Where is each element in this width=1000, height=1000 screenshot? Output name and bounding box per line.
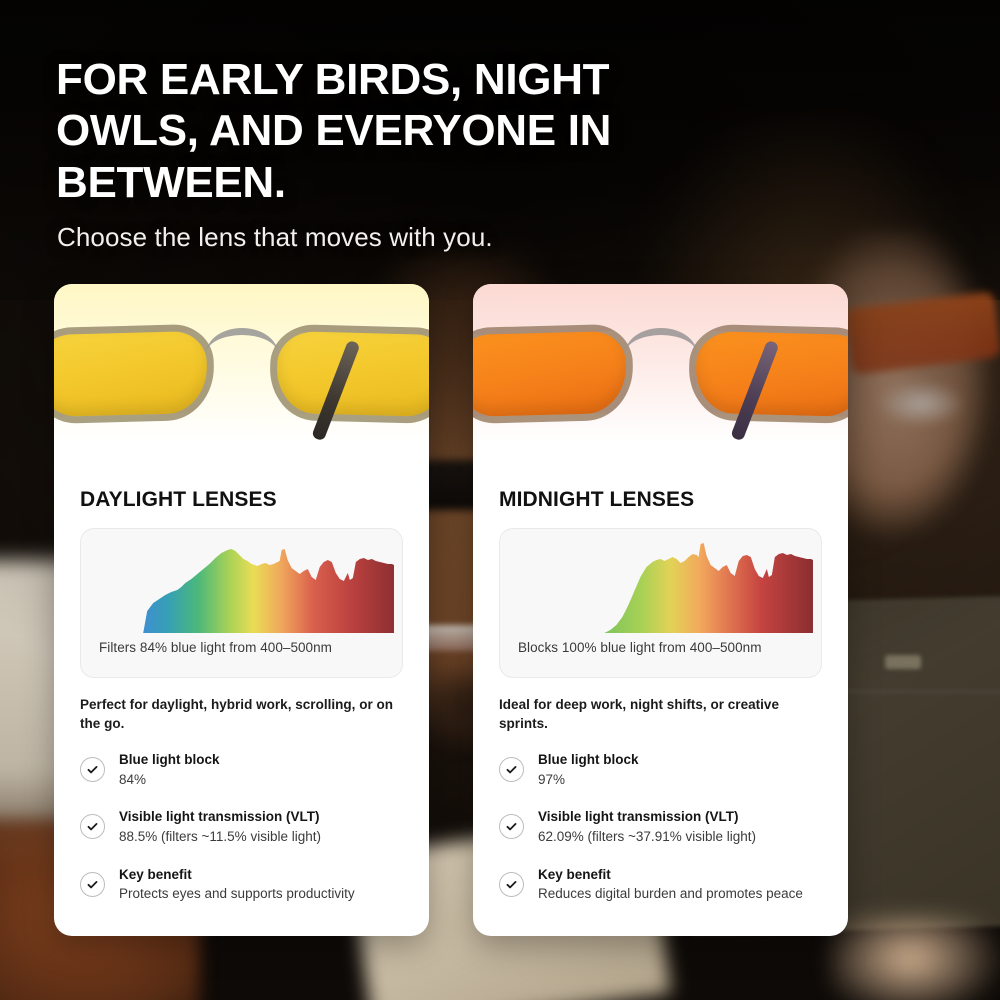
feature-text: Visible light transmission (VLT) 88.5% (… [119,806,321,846]
spectrum-caption-daylight: Filters 84% blue light from 400–500nm [99,640,332,655]
feature-item: Key benefit Protects eyes and supports p… [80,864,403,904]
feature-label: Key benefit [119,867,192,882]
lens-left-icon [54,324,215,425]
headline: FOR EARLY BIRDS, NIGHT OWLS, AND EVERYON… [56,54,696,208]
feature-item: Visible light transmission (VLT) 88.5% (… [80,806,403,846]
check-circle-icon [499,757,524,782]
feature-value: 88.5% (filters ~11.5% visible light) [119,829,321,844]
card-daylight-lenses[interactable]: DAYLIGHT LENSES [54,284,429,936]
card-body-midnight: MIDNIGHT LENSES [473,464,848,904]
feature-value: Reduces digital burden and promotes peac… [538,886,803,901]
spectrum-chart-midnight: Blocks 100% blue light from 400–500nm [499,528,822,678]
feature-label: Blue light block [538,752,639,767]
check-circle-icon [80,872,105,897]
feature-text: Key benefit Protects eyes and supports p… [119,864,355,904]
check-circle-icon [499,814,524,839]
feature-value: 97% [538,772,565,787]
feature-text: Visible light transmission (VLT) 62.09% … [538,806,756,846]
feature-label: Blue light block [119,752,220,767]
feature-item: Visible light transmission (VLT) 62.09% … [499,806,822,846]
feature-text: Key benefit Reduces digital burden and p… [538,864,803,904]
card-note-daylight: Perfect for daylight, hybrid work, scrol… [80,696,403,733]
lens-comparison-cards: DAYLIGHT LENSES [54,284,848,936]
check-circle-icon [80,757,105,782]
feature-item: Blue light block 97% [499,749,822,789]
check-circle-icon [499,872,524,897]
bridge-icon [625,328,697,354]
feature-label: Key benefit [538,867,611,882]
check-circle-icon [80,814,105,839]
feature-item: Key benefit Reduces digital burden and p… [499,864,822,904]
glasses-daylight [54,320,429,440]
spectrum-svg-daylight [81,537,402,633]
card-midnight-lenses[interactable]: MIDNIGHT LENSES [473,284,848,936]
product-image-midnight [473,284,848,464]
feature-value: 84% [119,772,146,787]
spectrum-plot-daylight [81,537,402,633]
spectrum-caption-midnight: Blocks 100% blue light from 400–500nm [518,640,762,655]
lens-left-icon [473,324,634,425]
glasses-midnight [473,320,848,440]
feature-text: Blue light block 97% [538,749,639,789]
spectrum-chart-daylight: Filters 84% blue light from 400–500nm [80,528,403,678]
feature-list-daylight: Blue light block 84% Visible light trans… [80,749,403,903]
card-title-daylight: DAYLIGHT LENSES [80,488,403,512]
feature-item: Blue light block 84% [80,749,403,789]
bridge-icon [206,328,278,354]
product-image-daylight [54,284,429,464]
subheadline: Choose the lens that moves with you. [57,222,697,253]
spectrum-plot-midnight [500,537,821,633]
feature-label: Visible light transmission (VLT) [538,809,739,824]
feature-label: Visible light transmission (VLT) [119,809,320,824]
card-note-midnight: Ideal for deep work, night shifts, or cr… [499,696,822,733]
feature-list-midnight: Blue light block 97% Visible light trans… [499,749,822,903]
feature-value: Protects eyes and supports productivity [119,886,355,901]
feature-value: 62.09% (filters ~37.91% visible light) [538,829,756,844]
card-body-daylight: DAYLIGHT LENSES [54,464,429,904]
card-title-midnight: MIDNIGHT LENSES [499,488,822,512]
promo-graphic: FOR EARLY BIRDS, NIGHT OWLS, AND EVERYON… [0,0,1000,1000]
spectrum-svg-midnight [500,537,821,633]
feature-text: Blue light block 84% [119,749,220,789]
